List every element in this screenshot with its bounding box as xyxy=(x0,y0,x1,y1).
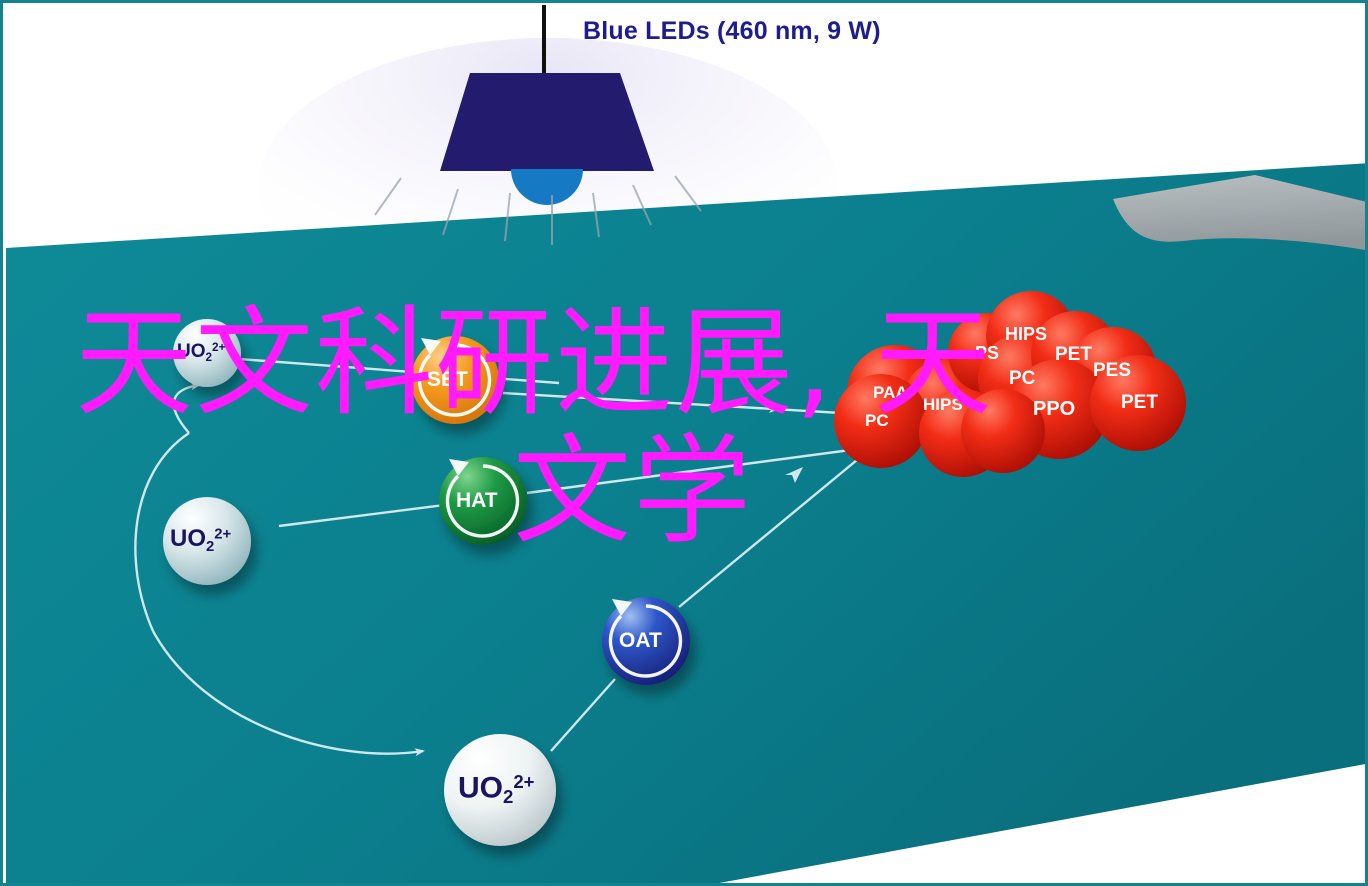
figure-canvas: Blue LEDs (460 nm, 9 W) xyxy=(0,0,1368,886)
sphere-set xyxy=(411,336,499,424)
sphere-uo2-top xyxy=(173,319,241,387)
sphere-uo2-mid xyxy=(163,497,251,585)
sphere-oat xyxy=(602,597,690,685)
mechanism-spheres xyxy=(3,3,1368,886)
sphere-hat xyxy=(439,457,527,545)
sphere-uo2-bottom xyxy=(444,734,556,846)
